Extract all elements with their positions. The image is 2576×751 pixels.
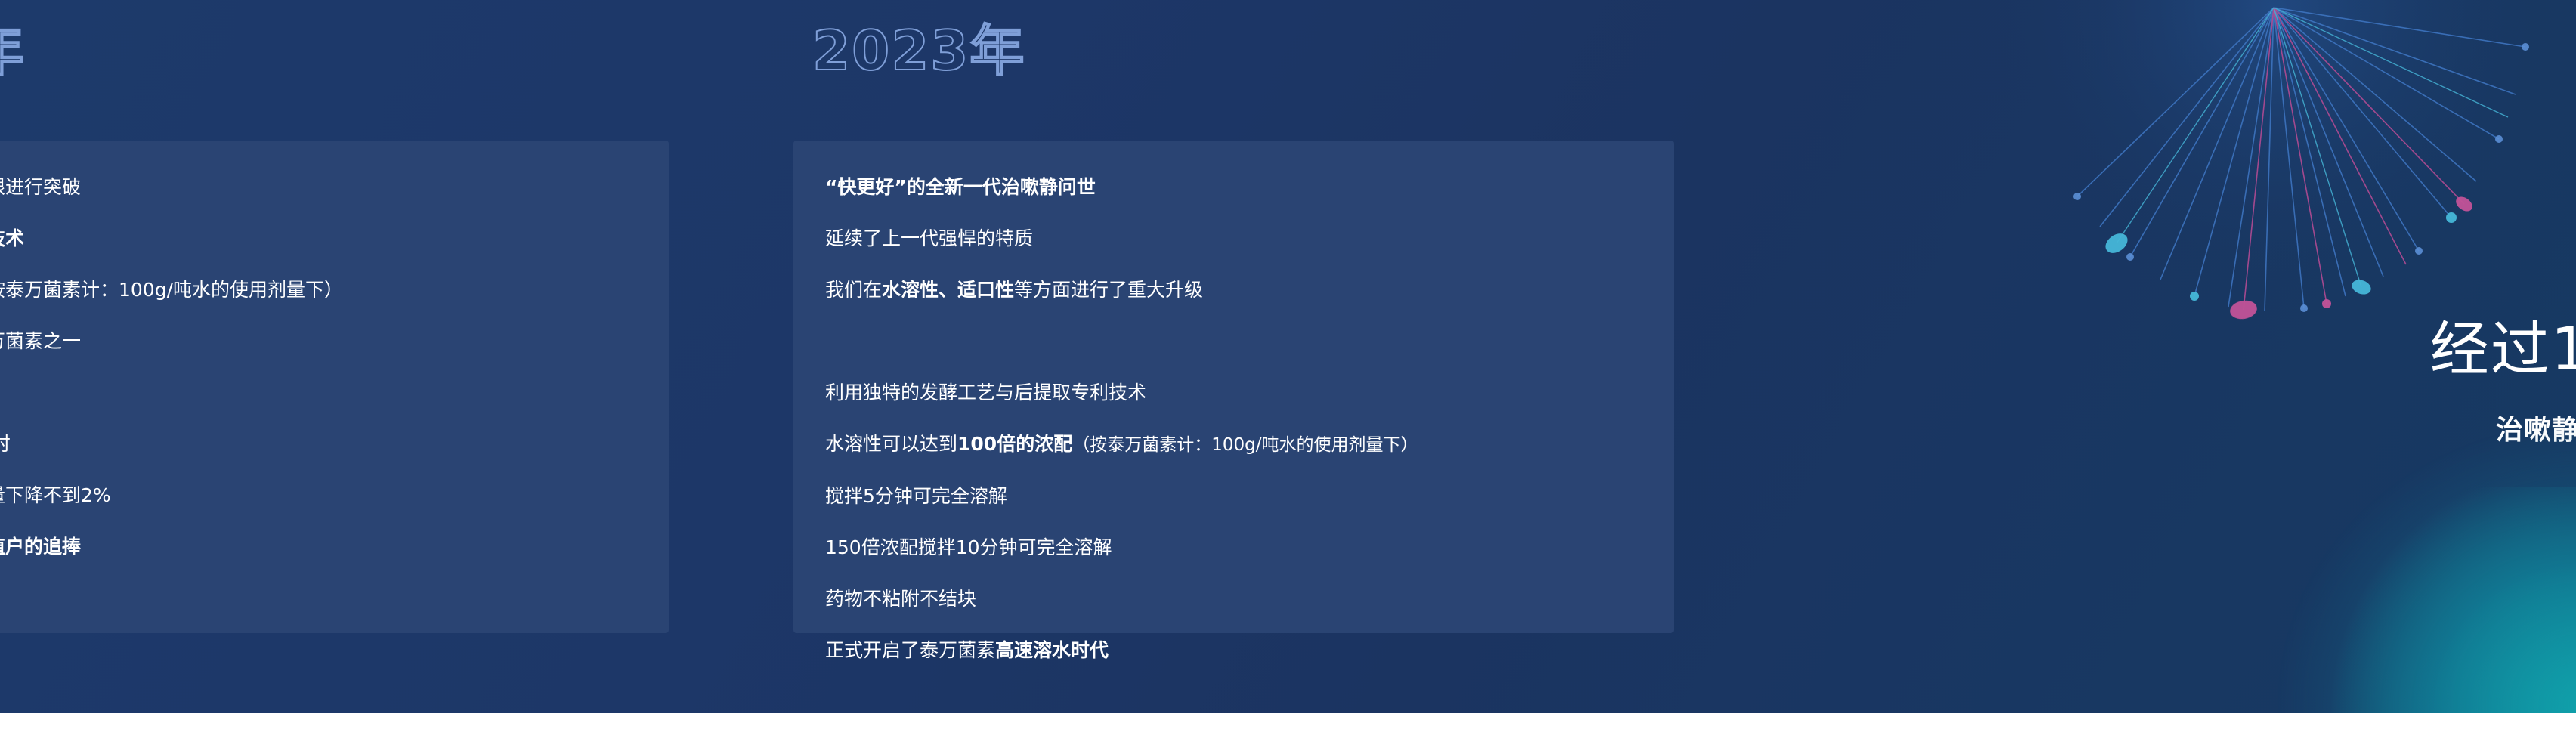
left-line-2: 溶水技术 <box>0 213 637 264</box>
left-content-card: 术上限进行突破 溶水技术 配（按泰万菌素计：100g/吨水的使用剂量下） 的泰万… <box>0 141 669 633</box>
mid-line-3: 我们在水溶性、适口性等方面进行了重大升级 <box>825 264 1642 316</box>
mid-line-8: 150倍浓配搅拌10分钟可完全溶解 <box>825 522 1642 573</box>
mid-line-3-b: 水溶性、适口性 <box>882 279 1014 301</box>
mid-line-6-c: （按泰万菌素计：100g/吨水的使用剂量下） <box>1072 435 1418 455</box>
mid-line-5: 利用独特的发酵工艺与后提取专利技术 <box>825 367 1642 419</box>
mid-line-title: “快更好”的全新一代治嗽静问世 <box>825 162 1642 213</box>
mid-line-10-b: 高速溶水时代 <box>995 639 1109 661</box>
mid-line-3-a: 我们在 <box>825 279 882 301</box>
bottom-white-strip <box>0 713 2576 751</box>
mid-line-9: 药物不粘附不结块 <box>825 573 1642 625</box>
mid-line-6-a: 水溶性可以达到 <box>825 433 957 455</box>
slide-canvas: 年 2023年 术上限进行突破 溶水技术 配（按泰万菌素计：100g/吨水的使用… <box>0 0 2576 751</box>
year-heading-left: 年 <box>0 6 26 85</box>
mid-line-3-c: 等方面进行了重大升级 <box>1014 279 1203 301</box>
left-line-blank <box>0 367 637 419</box>
mid-line-7: 搅拌5分钟可完全溶解 <box>825 471 1642 522</box>
year-heading-2023: 2023年 <box>812 6 1025 85</box>
mid-line-6: 水溶性可以达到100倍的浓配（按泰万菌素计：100g/吨水的使用剂量下） <box>825 419 1642 471</box>
left-line-7: 数养殖户的追捧 <box>0 521 637 573</box>
mid-line-blank <box>825 316 1642 367</box>
middle-content-card: “快更好”的全新一代治嗽静问世 延续了上一代强悍的特质 我们在水溶性、适口性等方… <box>793 141 1674 633</box>
right-headline: 经过16年 <box>2430 302 2576 387</box>
left-line-6: 分含量下降不到2% <box>0 470 637 521</box>
left-line-4: 的泰万菌素之一 <box>0 316 637 367</box>
mid-line-10-a: 正式开启了泰万菌素 <box>825 639 995 661</box>
teal-corner-glow <box>2319 487 2576 713</box>
mid-line-10: 正式开启了泰万菌素高速溶水时代 <box>825 625 1642 676</box>
left-line-1: 术上限进行突破 <box>0 162 637 213</box>
middle-card-body: “快更好”的全新一代治嗽静问世 延续了上一代强悍的特质 我们在水溶性、适口性等方… <box>793 141 1674 697</box>
left-line-3: 配（按泰万菌素计：100g/吨水的使用剂量下） <box>0 264 637 316</box>
left-line-5: 24小时 <box>0 419 637 470</box>
mid-line-2: 延续了上一代强悍的特质 <box>825 213 1642 264</box>
right-subline: 治嗽静现已成为家 <box>2496 408 2576 447</box>
left-card-body: 术上限进行突破 溶水技术 配（按泰万菌素计：100g/吨水的使用剂量下） 的泰万… <box>0 141 669 594</box>
mid-line-6-b: 100倍的浓配 <box>957 433 1072 455</box>
